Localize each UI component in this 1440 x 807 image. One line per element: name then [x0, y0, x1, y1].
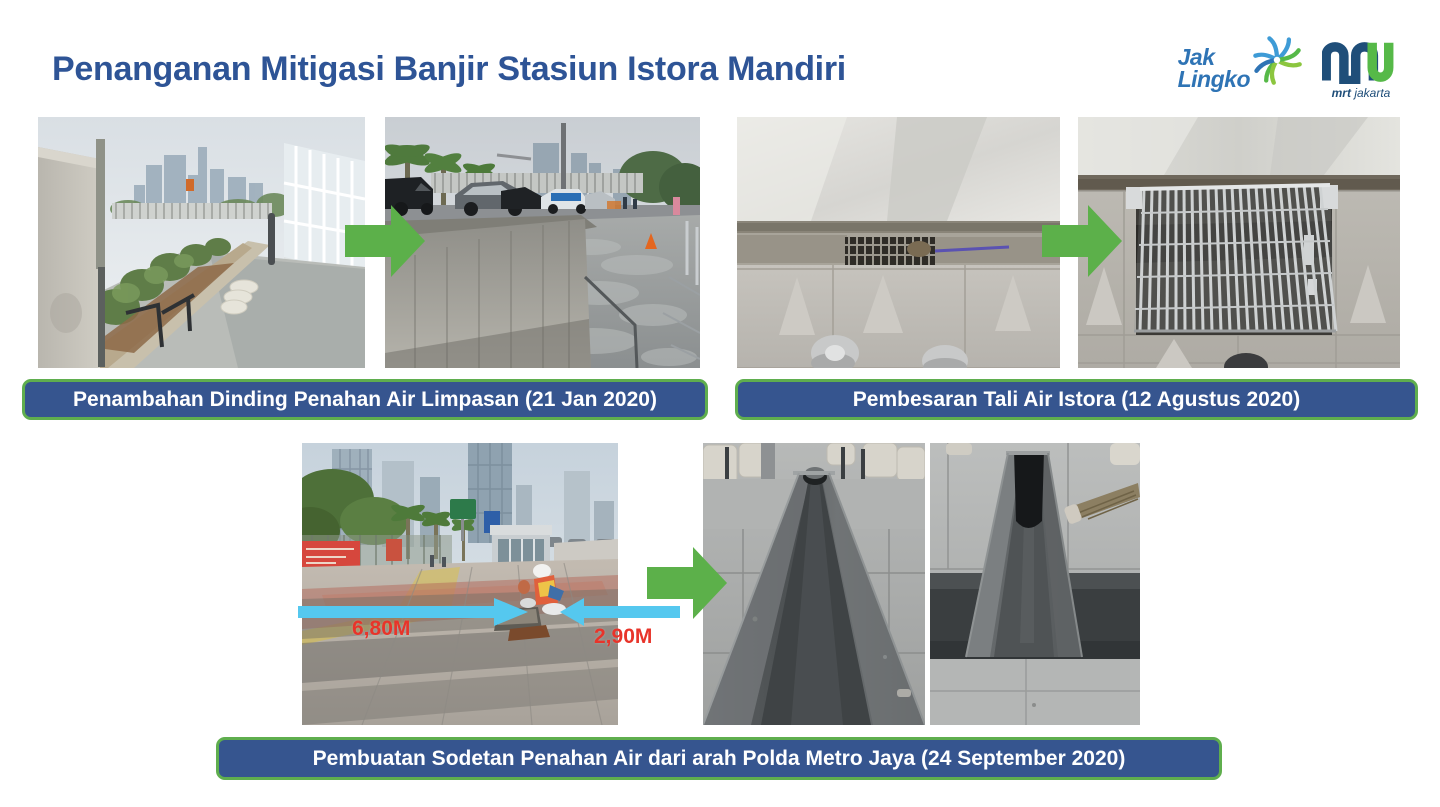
- transition-arrow-2: [1040, 199, 1124, 283]
- photo-after-water-channel: [1078, 117, 1400, 368]
- mrt-monogram-icon: [1322, 38, 1400, 89]
- photo-after-retaining-wall: [385, 117, 700, 368]
- jak-lingko-wordmark: Jak Lingko: [1178, 47, 1250, 91]
- photo-before-retaining-wall: [38, 117, 365, 368]
- mrt-sub-bold: mrt: [1332, 86, 1351, 100]
- photo-channel-closeup: [930, 443, 1140, 725]
- measurement-arrow-right: [560, 596, 680, 628]
- caption-retaining-wall-text: Penambahan Dinding Penahan Air Limpasan …: [73, 389, 657, 410]
- caption-water-channel-text: Pembesaran Tali Air Istora (12 Agustus 2…: [853, 389, 1300, 410]
- caption-water-channel: Pembesaran Tali Air Istora (12 Agustus 2…: [735, 379, 1418, 420]
- slide-canvas: Penanganan Mitigasi Banjir Stasiun Istor…: [0, 0, 1440, 807]
- measurement-arrow-left: [298, 596, 530, 628]
- caption-retaining-wall: Penambahan Dinding Penahan Air Limpasan …: [22, 379, 708, 420]
- photo-channel-long: [703, 443, 925, 725]
- logo-group: Jak Lingko: [1178, 38, 1400, 100]
- photo-plaza-measurements: [302, 443, 618, 725]
- mrt-jakarta-logo: mrt jakarta: [1322, 38, 1400, 100]
- mrt-sub-italic: jakarta: [1354, 86, 1390, 100]
- photo-before-water-channel: [737, 117, 1060, 368]
- pinwheel-icon: [1250, 33, 1304, 92]
- measurement-label-left: 6,80M: [352, 617, 410, 641]
- jak-lingko-logo: Jak Lingko: [1178, 47, 1304, 92]
- jak-lingko-line2: Lingko: [1178, 69, 1250, 91]
- mrt-jakarta-subtext: mrt jakarta: [1332, 86, 1391, 100]
- measurement-label-right: 2,90M: [594, 625, 652, 649]
- transition-arrow-1: [343, 199, 427, 283]
- caption-sodetan: Pembuatan Sodetan Penahan Air dari arah …: [216, 737, 1222, 780]
- page-title: Penanganan Mitigasi Banjir Stasiun Istor…: [52, 50, 846, 89]
- caption-sodetan-text: Pembuatan Sodetan Penahan Air dari arah …: [313, 748, 1126, 769]
